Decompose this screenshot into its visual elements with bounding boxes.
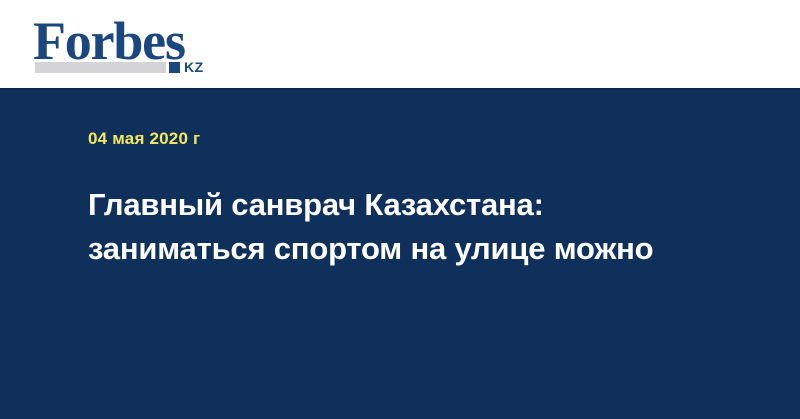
brand-rule-divider <box>35 62 166 73</box>
site-header: Forbes KZ <box>0 0 800 88</box>
hero-banner: 04 мая 2020 г Главный санврач Казахстана… <box>0 88 800 419</box>
article-date: 04 мая 2020 г <box>88 129 200 149</box>
brand-square-icon <box>169 62 180 73</box>
brand-locale-label: KZ <box>184 60 204 74</box>
article-headline: Главный санврач Казахстана: заниматься с… <box>88 183 688 271</box>
forbes-kz-logo[interactable]: Forbes KZ <box>33 14 233 80</box>
article-hero-page: Forbes KZ 04 мая 2020 г Главный санврач … <box>0 0 800 419</box>
brand-wordmark: Forbes <box>33 14 185 68</box>
